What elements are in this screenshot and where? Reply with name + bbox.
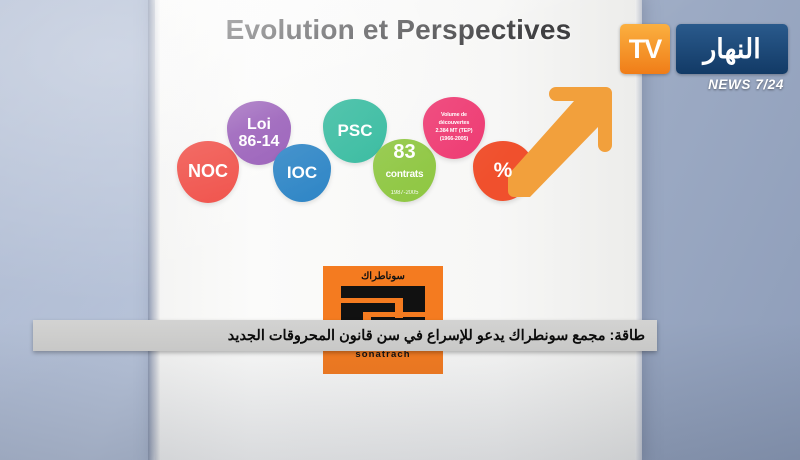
channel-logo-row: TV النهار: [620, 24, 788, 74]
pin-percent-label: %: [494, 160, 513, 183]
pin-ioc-label: IOC: [287, 164, 317, 182]
pin-contrats-label: contrats: [386, 169, 424, 180]
news-ticker-bar: طاقة: مجمع سونطراك يدعو للإسراع في سن قا…: [33, 320, 657, 351]
pin-contrats: 83 contrats 1987-2005: [373, 139, 436, 202]
channel-arabic-name: النهار: [676, 24, 788, 74]
pin-volume-line1: Volume de: [441, 112, 467, 118]
pin-noc-label: NOC: [188, 162, 228, 181]
pin-noc: NOC: [177, 141, 239, 203]
infographic-pins-group: NOC Loi 86-14 IOC PSC 83 contrats 1987-2…: [155, 89, 642, 264]
news-ticker-headline: طاقة: مجمع سونطراك يدعو للإسراع في سن قا…: [228, 328, 645, 344]
pin-contrats-count: 83: [393, 141, 415, 163]
pin-volume-line2: découvertes: [439, 120, 470, 126]
channel-logo: TV النهار NEWS 7/24: [620, 24, 788, 100]
pin-psc-label: PSC: [338, 122, 373, 140]
pin-contrats-period: 1987-2005: [391, 190, 419, 196]
pin-loi-line2: 86-14: [239, 133, 280, 150]
page-title: Evolution et Perspectives: [155, 14, 642, 46]
channel-tv-badge: TV: [620, 24, 670, 74]
pin-volume-line4: (1966-2005): [440, 136, 468, 142]
sonatrach-arabic-name: سوناطراك: [361, 271, 405, 282]
growth-arrow-icon: [500, 79, 620, 199]
broadcast-frame: Evolution et Perspectives NOC Loi 86-14 …: [0, 0, 800, 460]
pin-loi-line1: Loi: [247, 116, 271, 133]
pin-ioc: IOC: [273, 144, 331, 202]
channel-tagline: NEWS 7/24: [620, 77, 788, 92]
pin-volume-decouvertes: Volume de découvertes 2.384 MT (TEP) (19…: [423, 97, 485, 159]
pin-volume-line3: 2.384 MT (TEP): [436, 128, 473, 134]
presentation-slide-panel: Evolution et Perspectives NOC Loi 86-14 …: [155, 0, 642, 460]
